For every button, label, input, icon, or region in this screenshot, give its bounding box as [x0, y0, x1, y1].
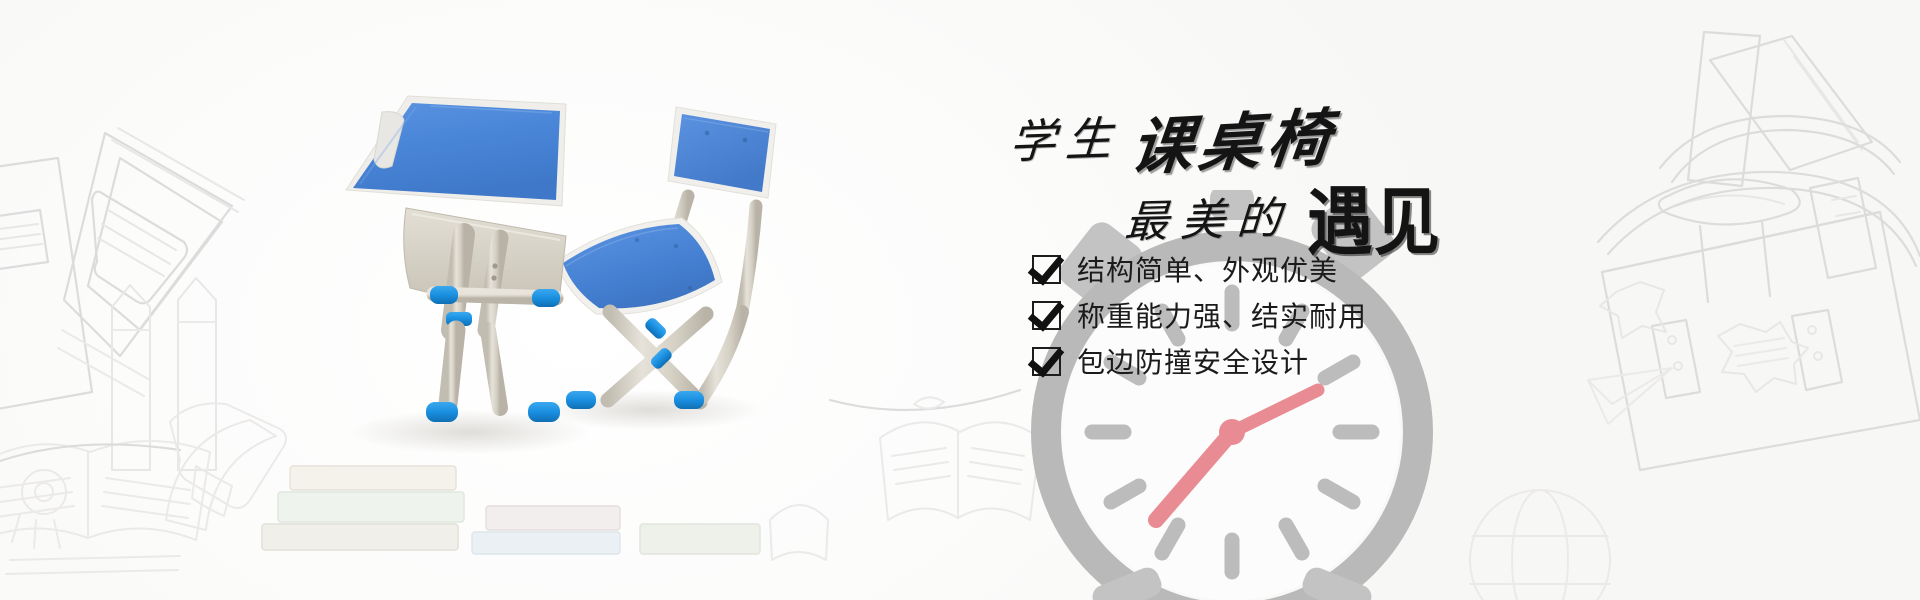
promo-banner: 学生课桌椅 最美的遇见 结构简单、外观优美 称重能力强、结实耐用 包边防撞安全设…	[0, 0, 1920, 600]
checkbox-checked-icon	[1032, 301, 1061, 330]
feature-text-3: 包边防撞安全设计	[1077, 341, 1309, 381]
feature-text-2: 称重能力强、结实耐用	[1077, 295, 1367, 335]
banner-text-block: 学生课桌椅 最美的遇见 结构简单、外观优美 称重能力强、结实耐用 包边防撞安全设…	[0, 0, 1920, 600]
checkbox-checked-icon	[1032, 347, 1061, 376]
feature-item-1: 结构简单、外观优美	[1032, 248, 1367, 290]
headline-line2-light: 最美的	[1123, 182, 1295, 250]
headline: 学生课桌椅 最美的遇见	[1010, 92, 1530, 232]
feature-list: 结构简单、外观优美 称重能力强、结实耐用 包边防撞安全设计	[1032, 248, 1367, 386]
headline-line1-light: 学生	[1008, 102, 1125, 172]
feature-item-2: 称重能力强、结实耐用	[1032, 294, 1367, 336]
feature-item-3: 包边防撞安全设计	[1032, 340, 1367, 382]
checkbox-checked-icon	[1032, 255, 1061, 284]
feature-text-1: 结构简单、外观优美	[1077, 249, 1338, 289]
